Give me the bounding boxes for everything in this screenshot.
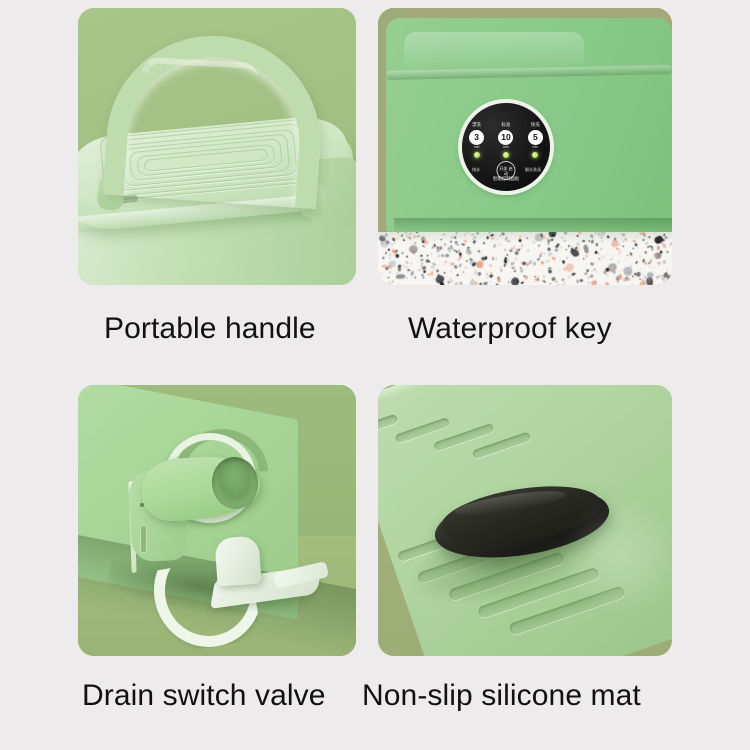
caption-portable-handle: Portable handle (104, 312, 316, 346)
program-button-standard[interactable]: 标准 10 min (494, 123, 518, 158)
program-label-cjk: 标准 (494, 123, 518, 128)
program-unit: min (465, 145, 489, 149)
program-button-rinse[interactable]: 漂洗 3 min (465, 123, 489, 158)
program-minutes: 10 (498, 130, 513, 145)
program-button-quick[interactable]: 快洗 5 min (523, 123, 547, 158)
body-vent-slot (140, 525, 147, 553)
feature-panel-portable-handle (78, 8, 356, 285)
program-minutes: 3 (469, 130, 484, 145)
body-bottom-shadow (394, 218, 672, 232)
program-minutes: 5 (528, 130, 543, 145)
terrazzo-countertop (378, 232, 672, 285)
feature-panel-waterproof-key: 漂洗 3 min 标准 10 min 快洗 5 min (378, 8, 672, 285)
feature-panel-non-slip-silicone-mat (378, 385, 672, 656)
led-indicator-icon (503, 152, 509, 158)
program-button-row: 漂洗 3 min 标准 10 min 快洗 5 min (462, 123, 550, 158)
program-label-cjk: 漂洗 (465, 123, 489, 128)
led-indicator-icon (532, 152, 538, 158)
body-highlight (404, 32, 584, 72)
base-sheen (562, 496, 672, 616)
caption-drain-switch-valve: Drain switch valve (82, 679, 326, 713)
drain-label-cjk: 排水 (472, 167, 480, 173)
feature-panel-drain-switch-valve (78, 385, 356, 656)
terrazzo-speckle-texture (378, 232, 672, 285)
caption-non-slip-silicone-mat: Non-slip silicone mat (362, 679, 641, 713)
led-indicator-icon (474, 152, 480, 158)
feature-grid-stage: 漂洗 3 min 标准 10 min 快洗 5 min (0, 0, 750, 750)
panel-brand-text: 智能控制面板 (462, 176, 550, 182)
program-unit: min (523, 145, 547, 149)
control-panel-dial[interactable]: 漂洗 3 min 标准 10 min 快洗 5 min (462, 103, 550, 191)
drain-plug-cap[interactable] (214, 536, 261, 587)
program-label-cjk: 快洗 (523, 123, 547, 128)
program-unit: min (494, 145, 518, 149)
spin-wash-label-cjk: 脱水洗涤 (525, 167, 541, 173)
caption-waterproof-key: Waterproof key (408, 312, 612, 346)
